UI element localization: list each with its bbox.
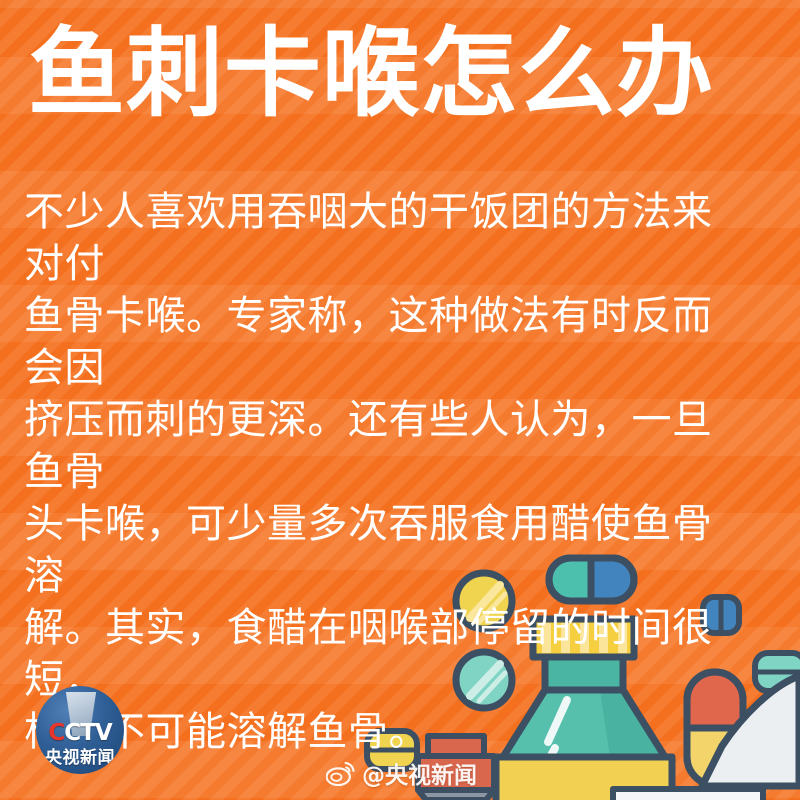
weibo-icon bbox=[326, 760, 356, 786]
cctv-logo-subtitle: 央视新闻 bbox=[36, 743, 124, 768]
body-copy: 不少人喜欢用吞咽大的干饭团的方法来对付 鱼骨卡喉。专家称，这种做法有时反而会因 … bbox=[24, 186, 750, 758]
body-line: 不少人喜欢用吞咽大的干饭团的方法来对付 bbox=[24, 186, 750, 290]
poster-canvas: 鱼刺卡喉怎么办 不少人喜欢用吞咽大的干饭团的方法来对付 鱼骨卡喉。专家称，这种做… bbox=[0, 0, 800, 800]
page-title: 鱼刺卡喉怎么办 bbox=[28, 18, 776, 129]
body-line: 根本不可能溶解鱼骨。 bbox=[24, 706, 750, 758]
body-line: 头卡喉，可少量多次吞服食用醋使鱼骨溶 bbox=[24, 498, 750, 602]
body-line: 解。其实，食醋在咽喉部停留的时间很短， bbox=[24, 602, 750, 706]
cctv-logo: CCTV 央视新闻 bbox=[36, 686, 124, 774]
weibo-watermark: @央视新闻 bbox=[326, 757, 477, 789]
body-line: 挤压而刺的更深。还有些人认为，一旦鱼骨 bbox=[24, 394, 750, 498]
weibo-handle: @央视新闻 bbox=[362, 756, 477, 790]
body-line: 鱼骨卡喉。专家称，这种做法有时反而会因 bbox=[24, 290, 750, 394]
cctv-logo-disc: CCTV 央视新闻 bbox=[36, 686, 124, 774]
text-content: 鱼刺卡喉怎么办 不少人喜欢用吞咽大的干饭团的方法来对付 鱼骨卡喉。专家称，这种做… bbox=[0, 0, 800, 800]
